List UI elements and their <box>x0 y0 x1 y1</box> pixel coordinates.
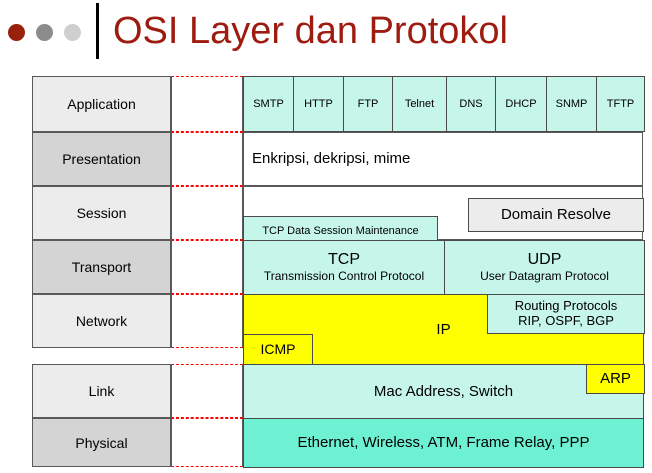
protocol-label: HTTP <box>304 98 333 111</box>
protocol-dns: DNS <box>446 76 496 132</box>
session-domain-resolve-box: Domain Resolve <box>468 198 644 232</box>
gap-cell-transport <box>171 240 243 294</box>
udp-subtitle: User Datagram Protocol <box>480 270 609 284</box>
gap-cell-session <box>171 186 243 240</box>
transport-udp-box: UDP User Datagram Protocol <box>444 240 645 295</box>
layer-label-session: Session <box>32 186 171 240</box>
osi-layer-table: Application SMTP HTTP FTP Telnet DNS DHC… <box>32 76 643 467</box>
gap-cell-physical <box>171 418 243 467</box>
ip-label: IP <box>436 321 450 338</box>
table-row-session: Session Domain Resolve TCP Data Session … <box>32 186 643 240</box>
protocol-label: Telnet <box>405 98 434 111</box>
content-link: Mac Address, Switch ARP <box>243 364 643 418</box>
physical-label: Ethernet, Wireless, ATM, Frame Relay, PP… <box>297 434 589 451</box>
arp-label: ARP <box>600 370 631 387</box>
protocol-label: DNS <box>459 98 482 111</box>
tcp-subtitle: Transmission Control Protocol <box>264 270 424 284</box>
protocol-tftp: TFTP <box>596 76 645 132</box>
protocol-smtp: SMTP <box>243 76 294 132</box>
content-session: Domain Resolve TCP Data Session Maintena… <box>243 186 643 240</box>
content-network: IP Routing Protocols RIP, OSPF, BGP ICMP <box>243 294 643 348</box>
bullet-gray-icon <box>36 24 53 41</box>
gap-cell-link <box>171 364 243 418</box>
link-arp-box: ARP <box>586 364 645 394</box>
network-routing-protocols-box: Routing Protocols RIP, OSPF, BGP <box>487 294 645 334</box>
network-icmp-box: ICMP <box>243 334 313 365</box>
layer-name-text: Transport <box>72 259 131 275</box>
bullet-dark-red-icon <box>8 24 25 41</box>
layer-label-network: Network <box>32 294 171 348</box>
gap-cell-presentation <box>171 132 243 186</box>
physical-media-box: Ethernet, Wireless, ATM, Frame Relay, PP… <box>243 418 644 468</box>
protocol-label: DHCP <box>505 98 536 111</box>
content-physical: Ethernet, Wireless, ATM, Frame Relay, PP… <box>243 418 643 467</box>
content-presentation: Enkripsi, dekripsi, mime <box>243 132 643 186</box>
layer-name-text: Network <box>76 313 127 329</box>
protocol-telnet: Telnet <box>392 76 447 132</box>
page-title: OSI Layer dan Protokol <box>113 4 508 58</box>
layer-label-presentation: Presentation <box>32 132 171 186</box>
protocol-ftp: FTP <box>343 76 393 132</box>
link-mac-address-box: Mac Address, Switch <box>243 364 644 419</box>
gap-cell-network <box>171 294 243 348</box>
layer-name-text: Physical <box>75 435 127 451</box>
routing-title: Routing Protocols <box>515 299 618 314</box>
routing-subtitle: RIP, OSPF, BGP <box>518 314 614 329</box>
tcp-title: TCP <box>328 251 360 269</box>
protocol-label: FTP <box>358 98 379 111</box>
table-row-link: Link Mac Address, Switch ARP <box>32 364 643 418</box>
layer-label-application: Application <box>32 76 171 132</box>
protocol-snmp: SNMP <box>546 76 597 132</box>
presentation-text: Enkripsi, dekripsi, mime <box>252 150 410 167</box>
presentation-text-box: Enkripsi, dekripsi, mime <box>243 132 644 186</box>
icmp-label: ICMP <box>261 341 296 357</box>
table-row-presentation: Presentation Enkripsi, dekripsi, mime <box>32 132 643 186</box>
layer-name-text: Session <box>77 205 127 221</box>
table-row-physical: Physical Ethernet, Wireless, ATM, Frame … <box>32 418 643 467</box>
title-divider <box>96 3 99 59</box>
protocol-http: HTTP <box>293 76 344 132</box>
bullet-light-gray-icon <box>64 24 81 41</box>
content-application: SMTP HTTP FTP Telnet DNS DHCP SNMP TFTP <box>243 76 643 132</box>
table-row-network: Network IP Routing Protocols RIP, OSPF, … <box>32 294 643 348</box>
table-row-application: Application SMTP HTTP FTP Telnet DNS DHC… <box>32 76 643 132</box>
layer-name-text: Application <box>67 96 136 112</box>
protocol-label: SNMP <box>556 98 588 111</box>
transport-tcp-box: TCP Transmission Control Protocol <box>243 240 445 295</box>
link-label: Mac Address, Switch <box>374 383 513 400</box>
protocol-label: TFTP <box>607 98 635 111</box>
table-row-transport: Transport TCP Transmission Control Proto… <box>32 240 643 294</box>
layer-label-link: Link <box>32 364 171 418</box>
gap-cell-application <box>171 76 243 132</box>
protocol-label: SMTP <box>253 98 284 111</box>
content-transport: TCP Transmission Control Protocol UDP Us… <box>243 240 643 294</box>
layer-label-transport: Transport <box>32 240 171 294</box>
domain-resolve-label: Domain Resolve <box>501 206 611 223</box>
slide-header: OSI Layer dan Protokol <box>0 0 652 70</box>
protocol-dhcp: DHCP <box>495 76 547 132</box>
tcp-maintenance-label: TCP Data Session Maintenance <box>262 225 418 238</box>
layer-name-text: Presentation <box>62 151 141 167</box>
udp-title: UDP <box>528 251 562 269</box>
layer-label-physical: Physical <box>32 418 171 467</box>
layer-name-text: Link <box>89 383 115 399</box>
